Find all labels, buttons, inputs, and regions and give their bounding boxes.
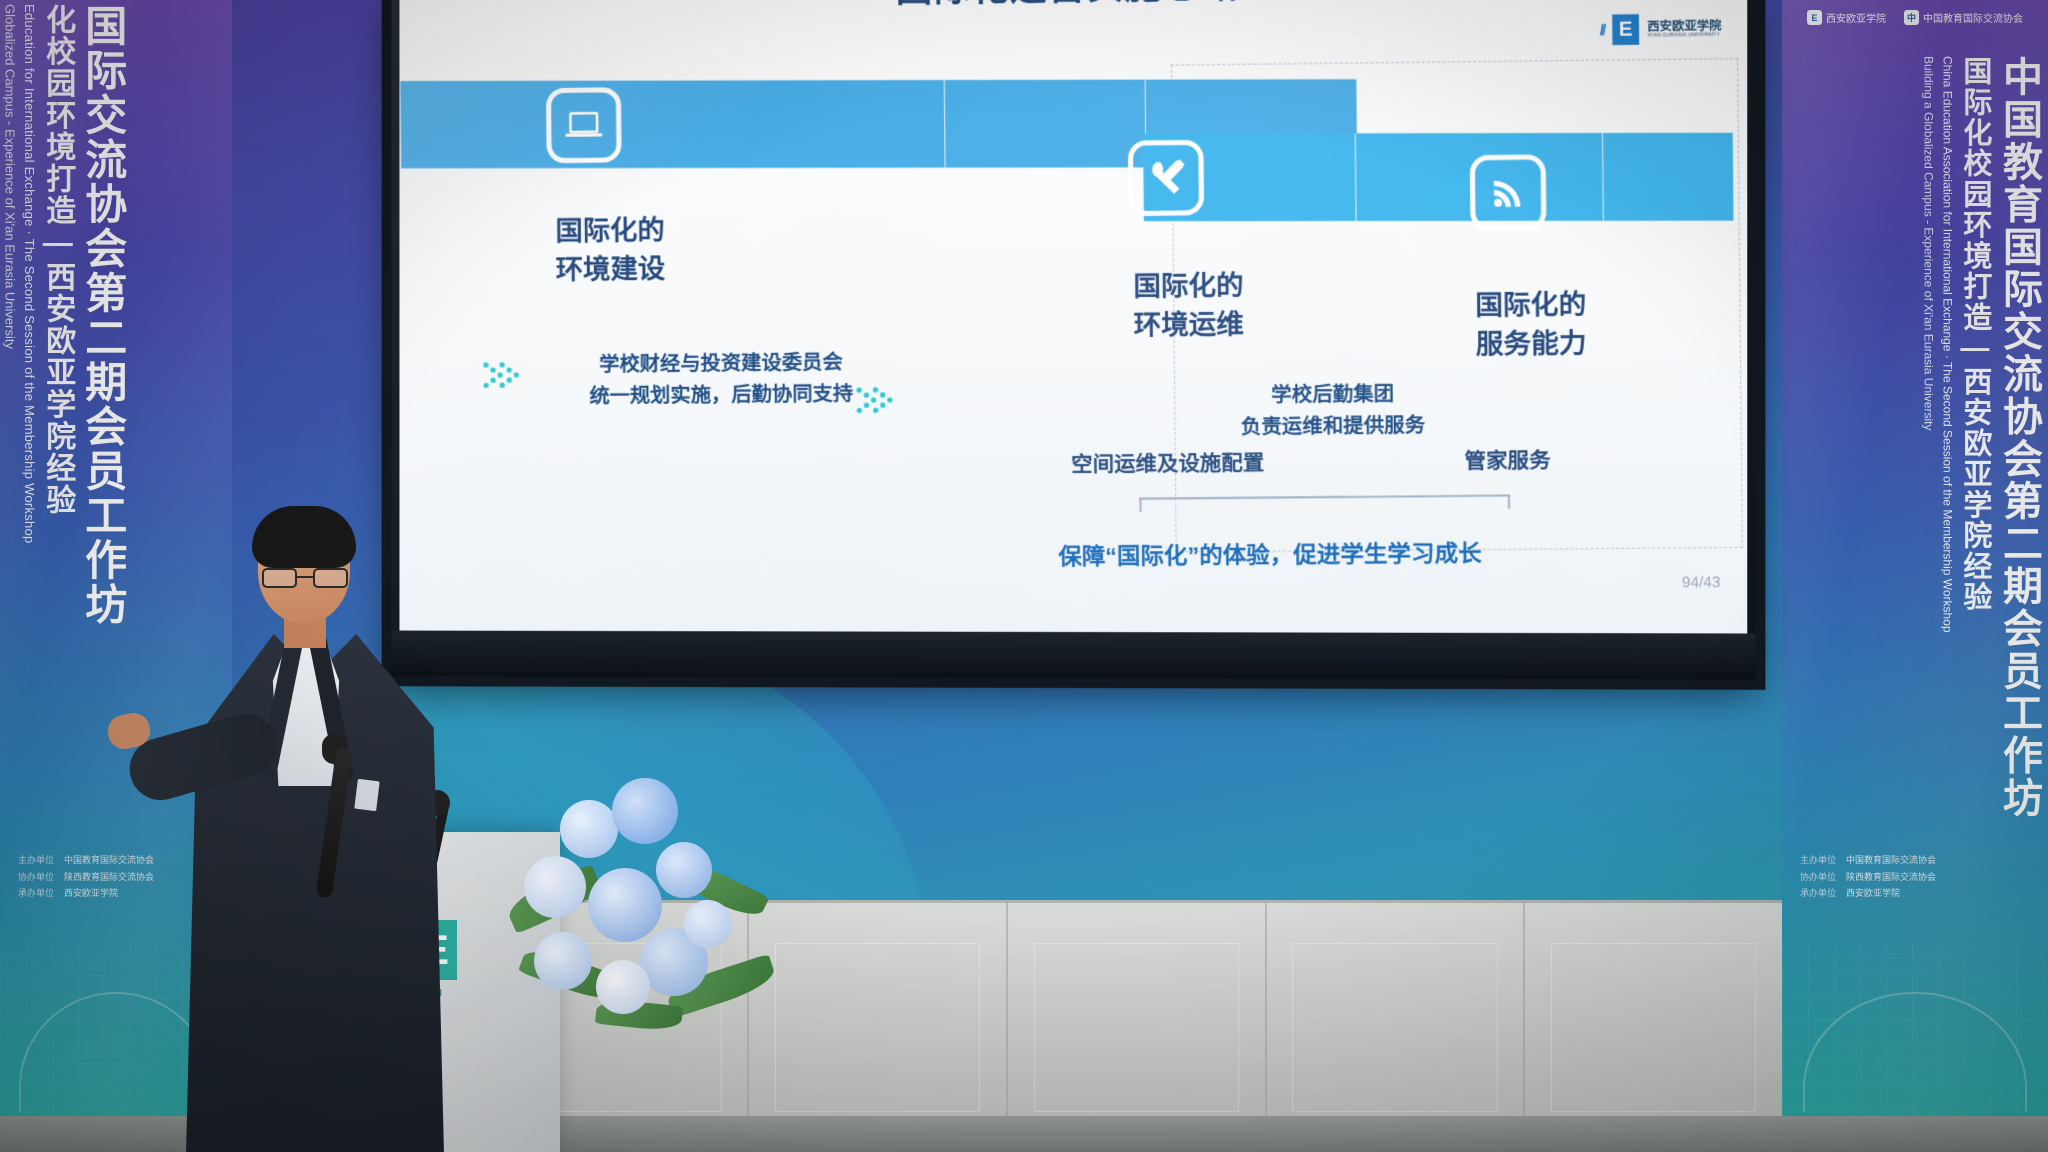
banner-right-footer-key-1: 协办单位 [1800,869,1836,886]
banner-right: E 西安欧亚学院 中 中国教育国际交流协会 中国教育国际交流协会第二期会员工作坊… [1782,0,2048,1152]
presenter-name-badge [354,779,379,811]
flower [534,932,592,990]
screen-bezel [392,631,1756,680]
flower [560,800,618,858]
banner-left-subtitle-en: Education for International Exchange · T… [22,4,38,544]
chevron-left-icon [482,359,529,394]
presenter-hair [252,506,356,568]
banner-left-footer-val-1: 陕西教育国际交流协会 [64,869,154,886]
column-2-label-line1: 国际化的 [1133,266,1244,306]
flower-arrangement [500,764,780,1064]
logo-ceaie: 中 中国教育国际交流协会 [1904,10,2023,25]
banner-right-subtitle-en-2: Building a Globalized Campus - Experienc… [1920,56,1935,430]
presenter-person [180,512,480,1152]
flower [588,868,662,942]
banner-left-footer-val-2: 西安欧亚学院 [64,885,118,902]
banner-left-title-cjk-2: 化校园环境打造—西安欧亚学院经验 [41,4,74,516]
conclusion-text: 保障“国际化”的体验，促进学生学习成长 [1058,534,1482,572]
column-2-label: 国际化的 环境运维 [1133,266,1244,345]
banner-right-title-cjk-2: 国际化校园环境打造—西安欧亚学院经验 [1958,56,1990,612]
flower [612,778,678,844]
banner-left-footer-key-2: 承办单位 [18,885,54,902]
banner-left-footer-key-1: 协办单位 [18,869,54,886]
banner-right-title-cjk-1: 中国教育国际交流协会第二期会员工作坊 [1997,56,2040,819]
banner-right-logos: E 西安欧亚学院 中 中国教育国际交流协会 [1782,10,2048,25]
slide-page-number: 94/43 [1682,574,1721,592]
tools-icon [1128,140,1204,216]
banner-right-footer-val-1: 陕西教育国际交流协会 [1846,869,1936,886]
presentation-slide: 国际化运营实施思路 // E 西安欧亚学院 XI'AN EURASIA UNIV… [399,0,1747,633]
stage-panel-5 [1267,903,1526,1152]
brace-tick-right [1508,495,1510,509]
banner-right-footer-key-2: 承办单位 [1800,885,1836,902]
projection-screen: 国际化运营实施思路 // E 西安欧亚学院 XI'AN EURASIA UNIV… [392,0,1756,680]
glasses-lens-left [262,568,297,588]
banner-left-subtitle-en-2: Globalized Campus - Experience of Xi'an … [2,4,18,349]
stage-panel-6 [1525,903,1782,1152]
banner-right-subtitle-en-1: China Education Association for Internat… [1939,56,1954,633]
grouping-brace [1139,495,1510,514]
presenter-glasses-icon [262,568,348,588]
stage-panel-3 [749,903,1008,1152]
rss-icon [1470,154,1547,231]
column-3-label-line2: 服务能力 [1476,324,1587,364]
glasses-lens-right [313,568,348,588]
ceaie-logo-icon: 中 [1904,10,1919,25]
flower [524,856,586,918]
brand-e-icon: E [1612,14,1639,45]
brand-slashes-icon: // [1600,21,1605,38]
column-1-label-line1: 国际化的 [555,211,665,251]
banner-right-footer: 主办单位中国教育国际交流协会 协办单位陕西教育国际交流协会 承办单位西安欧亚学院 [1782,852,2048,902]
icon-bar-right [1143,133,1733,222]
slide-title: 国际化运营实施思路 [399,0,1747,19]
bar-divider-3 [1355,133,1357,221]
brand-subname: XI'AN EURASIA UNIVERSITY [1647,32,1721,39]
banner-right-footer-val-0: 中国教育国际交流协会 [1846,852,1936,869]
stage-panel-4 [1008,903,1267,1152]
slide-brand-lockup: // E 西安欧亚学院 XI'AN EURASIA UNIVERSITY [1599,13,1721,45]
column-3-label: 国际化的 服务能力 [1475,285,1587,365]
column-2-label-line2: 环境运维 [1134,305,1245,345]
bar-divider-4 [1603,133,1605,221]
logo-ceaie-text: 中国教育国际交流协会 [1923,10,2023,25]
glasses-bridge [297,576,313,578]
banner-left-footer-val-0: 中国教育国际交流协会 [64,852,154,869]
sub-item-1: 管家服务 [1395,444,1621,479]
conference-scene: 国际交流协会第二期会员工作坊 化校园环境打造—西安欧亚学院经验 Educatio… [0,0,2048,1152]
logo-eurasia-text: 西安欧亚学院 [1826,10,1886,25]
flower [684,900,732,948]
banner-right-footer-val-2: 西安欧亚学院 [1846,885,1900,902]
flower [596,960,650,1014]
laptop-icon [546,87,622,163]
banner-left-title-cjk: 国际交流协会第二期会员工作坊 [80,4,125,627]
column-3-label-line1: 国际化的 [1475,285,1586,325]
banner-left-footer-key-0: 主办单位 [18,852,54,869]
flower [656,842,712,898]
brace-tick-left [1139,498,1141,512]
column-1-label: 国际化的 环境建设 [555,211,665,290]
logo-eurasia: E 西安欧亚学院 [1807,10,1886,25]
banner-right-footer-key-0: 主办单位 [1800,852,1836,869]
column-1-label-line2: 环境建设 [556,250,666,290]
sub-item-0: 空间运维及设施配置 [1025,447,1311,483]
column-2-body: 学校后勤集团 负责运维和提供服务 [1159,378,1508,445]
bar-divider-1 [944,80,946,168]
column-1-body: 学校财经与投资建设委员会 统一规划实施，后勤协同支持 [528,347,914,414]
eurasia-logo-icon: E [1807,10,1822,25]
